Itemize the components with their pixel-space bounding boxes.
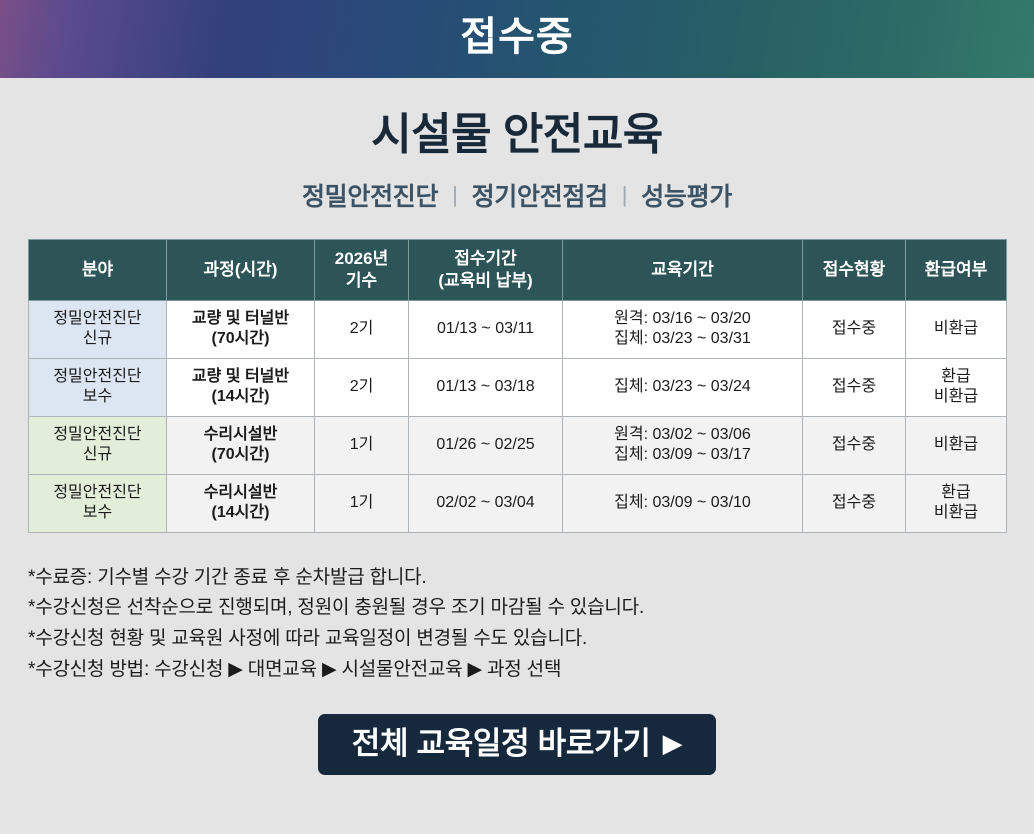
notes-list: *수료증: 기수별 수강 기간 종료 후 순차발급 합니다. *수강신청은 선착… bbox=[28, 563, 1034, 686]
title-block: 시설물 안전교육 정밀안전진단 | 정기안전점검 | 성능평가 bbox=[0, 78, 1034, 213]
cell-course: 수리시설반 (14시간) bbox=[167, 474, 315, 532]
cell-course-hours: (14시간) bbox=[171, 387, 310, 407]
cell-field-line2: 보수 bbox=[33, 387, 162, 407]
cell-education-period-line1: 집체: 03/23 ~ 03/24 bbox=[567, 377, 798, 397]
cell-apply-period: 01/26 ~ 02/25 bbox=[409, 416, 563, 474]
note-item: *수강신청 현황 및 교육원 사정에 따라 교육일정이 변경될 수도 있습니다. bbox=[28, 624, 1034, 655]
note-item: *수강신청 방법: 수강신청 ▶ 대면교육 ▶ 시설물안전교육 ▶ 과정 선택 bbox=[28, 655, 1034, 686]
note-item: *수료증: 기수별 수강 기간 종료 후 순차발급 합니다. bbox=[28, 563, 1034, 594]
status-banner-label: 접수중 bbox=[460, 17, 573, 61]
column-header-apply-period-line2: (교육비 납부) bbox=[412, 270, 559, 292]
column-header-course-line1: 과정(시간) bbox=[170, 259, 311, 281]
cell-refund: 환급 비환급 bbox=[906, 358, 1007, 416]
cell-field-line2: 신규 bbox=[33, 329, 162, 349]
cta-label: 전체 교육일정 바로가기 bbox=[352, 728, 651, 759]
schedule-table: 분야 과정(시간) 2026년 기수 접수기간 (교육비 납부) 교육기간 접수 bbox=[28, 239, 1007, 533]
cell-refund-line2: 비환급 bbox=[910, 503, 1002, 523]
cell-status: 접수중 bbox=[803, 474, 906, 532]
cell-education-period: 집체: 03/09 ~ 03/10 bbox=[563, 474, 803, 532]
cell-field-line1: 정밀안전진단 bbox=[33, 425, 162, 445]
column-header-apply-period: 접수기간 (교육비 납부) bbox=[409, 239, 563, 300]
cell-apply-period: 01/13 ~ 03/18 bbox=[409, 358, 563, 416]
table-row: 정밀안전진단 신규 교량 및 터널반 (70시간) 2기 01/13 ~ 03/… bbox=[29, 300, 1007, 358]
note-item: *수강신청은 선착순으로 진행되며, 정원이 충원될 경우 조기 마감될 수 있… bbox=[28, 593, 1034, 624]
cell-field: 정밀안전진단 신규 bbox=[29, 416, 167, 474]
cell-education-period: 원격: 03/16 ~ 03/20 집체: 03/23 ~ 03/31 bbox=[563, 300, 803, 358]
column-header-term: 2026년 기수 bbox=[315, 239, 409, 300]
cell-refund-line1: 환급 bbox=[910, 483, 1002, 503]
cell-refund: 환급 비환급 bbox=[906, 474, 1007, 532]
cell-field-line2: 신규 bbox=[33, 445, 162, 465]
cell-term: 2기 bbox=[315, 300, 409, 358]
subtitle-item-1: 정밀안전진단 bbox=[302, 177, 438, 213]
cell-field-line1: 정밀안전진단 bbox=[33, 309, 162, 329]
cell-apply-period: 02/02 ~ 03/04 bbox=[409, 474, 563, 532]
cell-term: 2기 bbox=[315, 358, 409, 416]
column-header-refund: 환급여부 bbox=[906, 239, 1007, 300]
cta-wrapper: 전체 교육일정 바로가기 ▶ bbox=[0, 714, 1034, 775]
cell-course: 교량 및 터널반 (70시간) bbox=[167, 300, 315, 358]
column-header-term-line1: 2026년 bbox=[318, 248, 405, 270]
subtitle-item-2: 정기안전점검 bbox=[472, 177, 608, 213]
column-header-refund-line1: 환급여부 bbox=[909, 259, 1003, 281]
cell-field: 정밀안전진단 보수 bbox=[29, 474, 167, 532]
cell-course-name: 수리시설반 bbox=[171, 483, 310, 503]
cell-field-line2: 보수 bbox=[33, 503, 162, 523]
cell-education-period: 집체: 03/23 ~ 03/24 bbox=[563, 358, 803, 416]
column-header-apply-period-line1: 접수기간 bbox=[412, 248, 559, 270]
column-header-term-line2: 기수 bbox=[318, 270, 405, 292]
cell-term: 1기 bbox=[315, 474, 409, 532]
table-header-row: 분야 과정(시간) 2026년 기수 접수기간 (교육비 납부) 교육기간 접수 bbox=[29, 239, 1007, 300]
cell-course-hours: (14시간) bbox=[171, 503, 310, 523]
column-header-education-period: 교육기간 bbox=[563, 239, 803, 300]
cell-refund-line2: 비환급 bbox=[910, 387, 1002, 407]
cell-course: 교량 및 터널반 (14시간) bbox=[167, 358, 315, 416]
page-title: 시설물 안전교육 bbox=[0, 110, 1034, 161]
cell-status: 접수중 bbox=[803, 358, 906, 416]
subtitle-separator-1: | bbox=[438, 182, 471, 208]
cell-course: 수리시설반 (70시간) bbox=[167, 416, 315, 474]
column-header-course: 과정(시간) bbox=[167, 239, 315, 300]
cell-status: 접수중 bbox=[803, 416, 906, 474]
cell-education-period-line1: 원격: 03/16 ~ 03/20 bbox=[567, 309, 798, 329]
subtitle-row: 정밀안전진단 | 정기안전점검 | 성능평가 bbox=[0, 177, 1034, 213]
cell-refund-line1: 환급 bbox=[910, 367, 1002, 387]
cell-course-name: 수리시설반 bbox=[171, 425, 310, 445]
cell-field: 정밀안전진단 보수 bbox=[29, 358, 167, 416]
column-header-education-period-line1: 교육기간 bbox=[566, 259, 799, 281]
status-banner: 접수중 bbox=[0, 0, 1034, 78]
cell-field-line1: 정밀안전진단 bbox=[33, 483, 162, 503]
subtitle-item-3: 성능평가 bbox=[641, 177, 732, 213]
cell-education-period-line2: 집체: 03/23 ~ 03/31 bbox=[567, 329, 798, 349]
cell-refund: 비환급 bbox=[906, 416, 1007, 474]
subtitle-separator-2: | bbox=[608, 182, 641, 208]
table-row: 정밀안전진단 보수 수리시설반 (14시간) 1기 02/02 ~ 03/04 … bbox=[29, 474, 1007, 532]
table-row: 정밀안전진단 보수 교량 및 터널반 (14시간) 2기 01/13 ~ 03/… bbox=[29, 358, 1007, 416]
cell-apply-period: 01/13 ~ 03/11 bbox=[409, 300, 563, 358]
cell-education-period-line1: 원격: 03/02 ~ 03/06 bbox=[567, 425, 798, 445]
full-schedule-link-button[interactable]: 전체 교육일정 바로가기 ▶ bbox=[318, 714, 717, 775]
cell-term: 1기 bbox=[315, 416, 409, 474]
cell-status: 접수중 bbox=[803, 300, 906, 358]
cell-course-name: 교량 및 터널반 bbox=[171, 309, 310, 329]
column-header-field: 분야 bbox=[29, 239, 167, 300]
cell-education-period: 원격: 03/02 ~ 03/06 집체: 03/09 ~ 03/17 bbox=[563, 416, 803, 474]
column-header-status: 접수현황 bbox=[803, 239, 906, 300]
table-row: 정밀안전진단 신규 수리시설반 (70시간) 1기 01/26 ~ 02/25 … bbox=[29, 416, 1007, 474]
cell-course-hours: (70시간) bbox=[171, 329, 310, 349]
cell-refund: 비환급 bbox=[906, 300, 1007, 358]
cell-field: 정밀안전진단 신규 bbox=[29, 300, 167, 358]
cell-field-line1: 정밀안전진단 bbox=[33, 367, 162, 387]
column-header-field-line1: 분야 bbox=[32, 259, 163, 281]
cell-education-period-line2: 집체: 03/09 ~ 03/17 bbox=[567, 445, 798, 465]
schedule-table-wrapper: 분야 과정(시간) 2026년 기수 접수기간 (교육비 납부) 교육기간 접수 bbox=[28, 239, 1006, 533]
cell-course-name: 교량 및 터널반 bbox=[171, 367, 310, 387]
cell-refund-line1: 비환급 bbox=[910, 435, 1002, 455]
cell-education-period-line1: 집체: 03/09 ~ 03/10 bbox=[567, 493, 798, 513]
column-header-status-line1: 접수현황 bbox=[806, 259, 902, 281]
cell-course-hours: (70시간) bbox=[171, 445, 310, 465]
cell-refund-line1: 비환급 bbox=[910, 319, 1002, 339]
play-arrow-icon: ▶ bbox=[663, 730, 683, 756]
